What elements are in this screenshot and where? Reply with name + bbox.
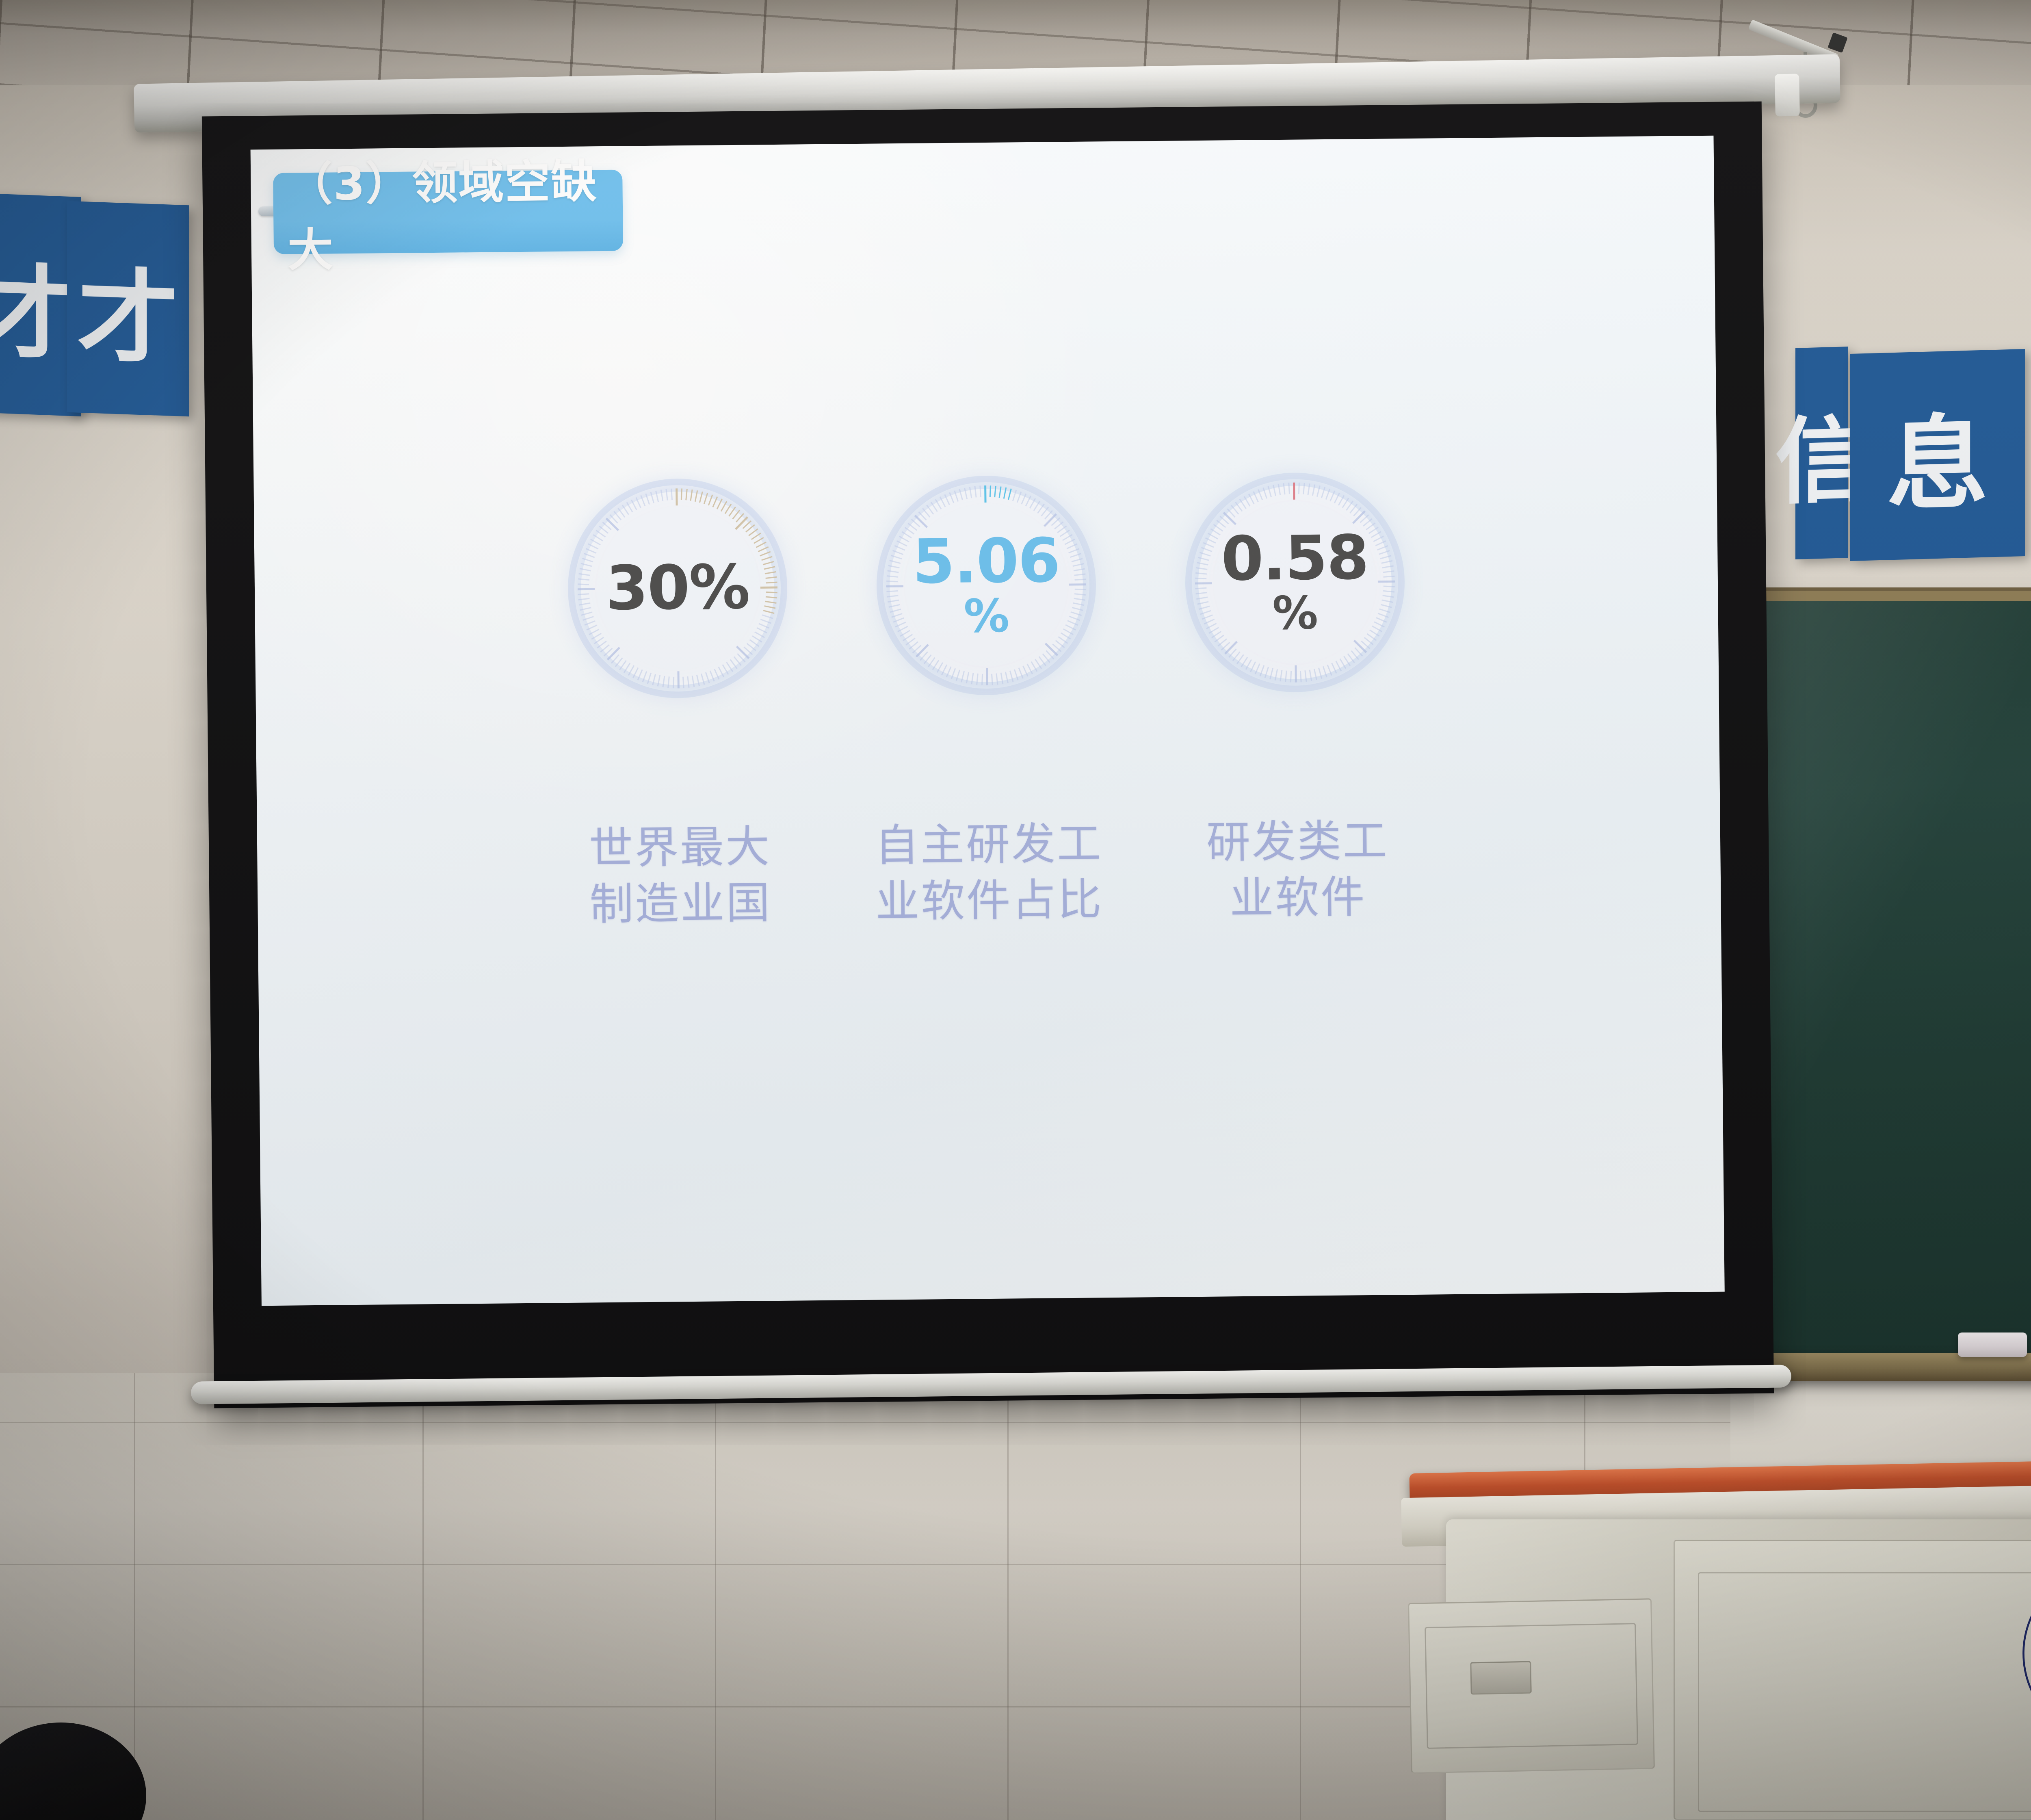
wall-sign-4: 息: [1850, 349, 2025, 561]
gauge-2-caption-line-1: 自主研发工: [862, 816, 1115, 874]
gauge-3-caption-line-2: 业软件: [1172, 869, 1424, 927]
gauge-3-value-block: 0.58 %: [1180, 468, 1410, 697]
gauge-rnd-industrial-software: 0.58 %: [1180, 468, 1410, 697]
slide-title-chip: （3）领域空缺大: [273, 169, 623, 254]
gauge-2-wrapper: 5.06 %: [859, 409, 1114, 761]
classroom-presentation-scene: 才 才 信 息 SPEAKER 箱 （3）领域空缺大: [0, 0, 2031, 1820]
wall-sign-3: 信: [1795, 347, 1848, 559]
projector-screen: （3）领域空缺大 30 %: [202, 102, 1774, 1408]
wall-sign-2-label: 才: [77, 234, 179, 384]
gauge-3-caption-line-1: 研发类工: [1171, 812, 1423, 871]
gauge-3-caption: 研发类工 业软件: [1171, 812, 1424, 927]
gauge-world-largest-manufacturer: 30 %: [563, 473, 792, 703]
gauge-3-value: 0.58: [1221, 529, 1368, 588]
chalkboard: [1739, 601, 2031, 1365]
gauge-1-caption-line-2: 制造业国: [554, 875, 807, 933]
chalkboard-eraser: [1958, 1332, 2027, 1357]
gauge-2-value-block: 5.06 %: [871, 470, 1101, 700]
wall-sign-4-label: 息: [1887, 380, 1988, 530]
gauge-row: 30 % 5.0: [253, 403, 1719, 783]
wall-sign-2: 才: [67, 201, 189, 416]
podium-panel-inset: [1698, 1572, 2031, 1812]
slide-title: （3）领域空缺大: [273, 144, 624, 279]
gauge-domestic-industrial-software-share: 5.06 %: [871, 470, 1101, 700]
gauge-1-caption-line-1: 世界最大: [554, 819, 806, 877]
gauge-1-caption: 世界最大 制造业国: [554, 819, 807, 933]
gauge-3-unit: %: [1272, 591, 1318, 635]
gauge-1-value-block: 30 %: [563, 473, 792, 703]
gauge-3-wrapper: 0.58 %: [1167, 406, 1423, 758]
gauge-2-unit: %: [964, 594, 1009, 638]
gauge-1-unit: %: [689, 559, 750, 617]
university-logo: 1941 湖南科技学院 OF SCIENCE AND ENGINEERING: [2017, 1558, 2031, 1749]
gauge-2-value: 5.06: [912, 532, 1060, 591]
gauge-1-wrapper: 30 %: [550, 412, 805, 764]
gauge-2-caption-line-2: 业软件占比: [863, 872, 1115, 930]
presentation-slide: （3）领域空缺大 30 %: [251, 135, 1725, 1306]
podium-drawer-handle[interactable]: [1470, 1661, 1532, 1695]
projector-screen-roller-cap: [1775, 74, 1800, 116]
gauge-captions: 世界最大 制造业国 自主研发工 业软件占比 研发类工 业软件: [257, 810, 1721, 936]
gauge-2-caption: 自主研发工 业软件占比: [862, 816, 1115, 930]
gauge-1-value: 30: [606, 559, 689, 617]
chalkboard-glare: [1739, 601, 2031, 1365]
